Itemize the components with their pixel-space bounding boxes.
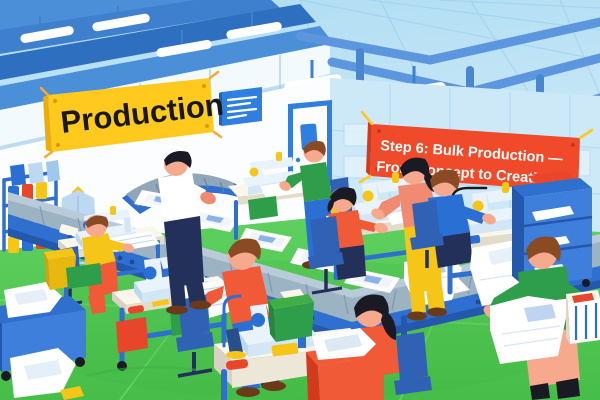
bin-back-green [248, 196, 278, 220]
wall-notice-board[interactable] [219, 87, 262, 126]
door-handle[interactable] [296, 158, 300, 162]
machine-handwheel-front [251, 313, 265, 327]
machine-handwheel-b [144, 267, 157, 280]
supply-carton-right[interactable] [566, 290, 600, 344]
factory-illustration: Production Step 6: Bulk Production — Fro… [0, 0, 600, 400]
bin-red-under-table [116, 317, 148, 353]
